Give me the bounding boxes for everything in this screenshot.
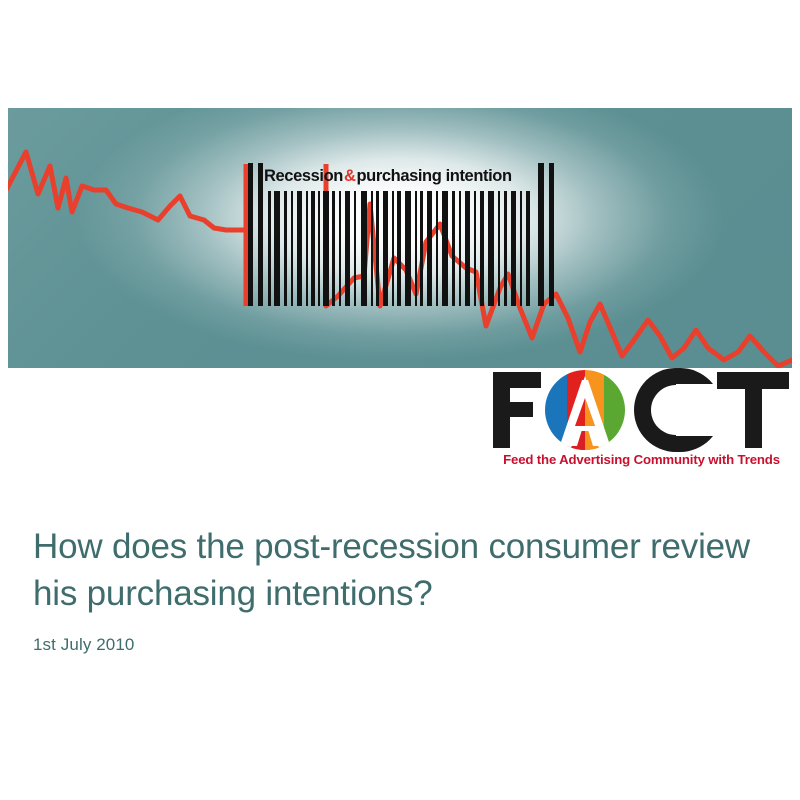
logo-letter-c	[634, 368, 722, 452]
fact-logo: Feed the Advertising Community with Tren…	[489, 368, 792, 478]
fact-wordmark	[489, 368, 792, 452]
title-block: How does the post-recession consumer rev…	[33, 524, 763, 655]
title-slide: Recession & purchasing intention	[0, 0, 800, 800]
page-title: How does the post-recession consumer rev…	[33, 524, 763, 617]
logo-letter-t	[717, 372, 789, 448]
presentation-date: 1st July 2010	[33, 635, 763, 655]
barcode-graphic: Recession & purchasing intention	[246, 163, 558, 306]
logo-letter-f	[493, 372, 541, 448]
barcode-bars	[246, 163, 558, 306]
trend-line-left	[8, 152, 246, 230]
logo-tagline: Feed the Advertising Community with Tren…	[491, 452, 792, 467]
logo-circle-mark	[545, 370, 627, 452]
